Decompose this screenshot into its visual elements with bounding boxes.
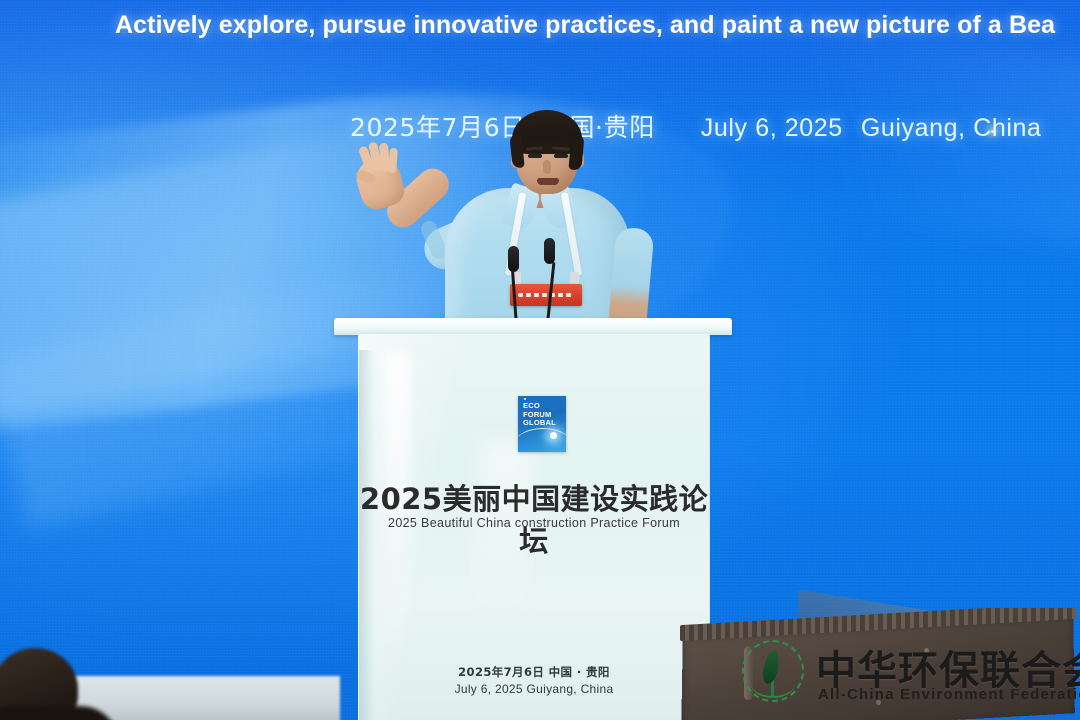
conference-photo: Actively explore, pursue innovative prac…	[0, 0, 1080, 720]
lectern: ECO FORUM GLOBAL 2025美丽中国建设实践论坛 2025 Bea…	[358, 318, 708, 720]
speaker-figure	[330, 120, 690, 335]
speaker-eye-right	[554, 154, 568, 158]
speaker-nose	[543, 160, 551, 174]
speaker-eye-left	[528, 154, 542, 158]
eco-forum-global-logo: ECO FORUM GLOBAL	[518, 396, 566, 452]
logo-horizon-curve	[518, 428, 566, 445]
lectern-date-en: July 6, 2025 Guiyang, China	[359, 682, 709, 696]
speaker-torso	[445, 188, 630, 338]
backdrop-headline: Actively explore, pursue innovative prac…	[0, 11, 1080, 40]
name-badge-text	[518, 293, 574, 297]
federation-watermark: 中华环保联合会 All-China Environment Federation	[730, 636, 1080, 710]
name-badge	[510, 284, 582, 306]
speaker-mouth	[537, 178, 559, 185]
lectern-date-cn: 2025年7月6日 中国 · 贵阳	[359, 664, 709, 680]
logo-line-3: GLOBAL	[523, 419, 556, 428]
logo-accent-dot	[524, 398, 526, 400]
watermark-name-en: All-China Environment Federation	[818, 686, 1080, 703]
federation-emblem-icon	[742, 640, 804, 702]
lectern-top-surface	[334, 318, 732, 335]
lectern-front-panel: ECO FORUM GLOBAL 2025美丽中国建设实践论坛 2025 Bea…	[358, 334, 710, 720]
forum-title-en: 2025 Beautiful China construction Practi…	[359, 516, 709, 530]
backdrop-date-en: July 6, 2025	[701, 114, 843, 143]
backdrop-location-en: Guiyang, China	[861, 114, 1042, 143]
logo-sun-icon	[550, 432, 557, 439]
logo-text: ECO FORUM GLOBAL	[523, 402, 556, 428]
